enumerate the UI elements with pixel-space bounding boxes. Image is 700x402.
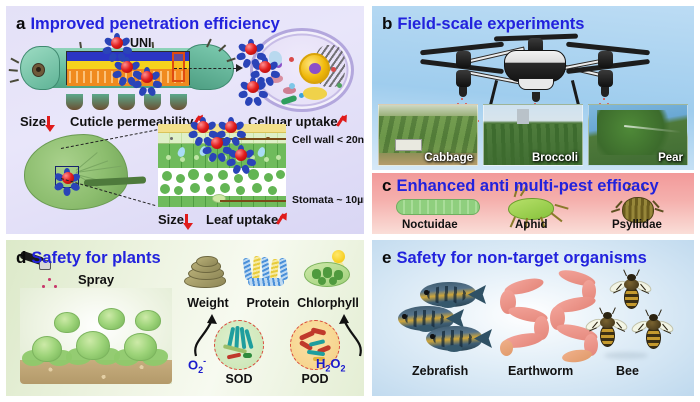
metric-size-label: Size <box>158 212 184 227</box>
panel-c-letter: c <box>382 176 391 196</box>
panel-d-heading: dSafety for plants <box>16 248 161 268</box>
bee-head <box>649 314 658 321</box>
panel-d-letter: d <box>16 248 26 268</box>
aphid-leg <box>550 212 562 222</box>
bee-antenna <box>636 269 640 276</box>
zebrafish-illustration <box>412 282 486 308</box>
thylakoid-granum <box>318 277 326 285</box>
nanoparticle-uni <box>138 68 156 86</box>
mesophyll-cell <box>206 186 215 195</box>
bee-shadow <box>604 352 648 359</box>
mesophyll-cell <box>220 183 230 193</box>
leaf-spongy-mesophyll <box>158 168 286 196</box>
graphical-abstract-figure: aImproved penetration efficiency <box>0 0 700 402</box>
organelle-vesicle <box>289 57 294 62</box>
mesophyll-cell <box>234 174 243 183</box>
bee-abdomen <box>646 327 661 349</box>
protein-icon <box>242 256 292 290</box>
drone-motor <box>598 51 613 68</box>
mesophyll-cell <box>176 174 185 183</box>
caterpillar-proleg <box>92 94 109 110</box>
panel-e-safety-for-non-target-organisms: eSafety for non-target organisms Zebrafi… <box>372 240 694 396</box>
drone-motor <box>456 70 471 87</box>
chloroplast-dot <box>276 155 281 160</box>
metric-size-leaf: Size <box>158 212 186 227</box>
panel-a-title: Improved penetration efficiency <box>30 15 279 34</box>
nanoparticle-uni-label: UNI <box>130 36 152 50</box>
chlorophyll-icon <box>302 250 352 288</box>
weight-icon <box>184 256 230 290</box>
cabbage-head <box>98 308 125 330</box>
bee-antenna <box>623 269 627 276</box>
caterpillar-seta <box>152 42 154 48</box>
mesophyll-cell <box>252 183 262 193</box>
panel-a-letter: a <box>16 14 25 34</box>
cabbage-plant <box>50 310 88 342</box>
cell-wall-pore <box>170 137 173 140</box>
mesophyll-cell <box>188 169 199 180</box>
caterpillar-proleg <box>170 94 187 110</box>
organelle-chloroplast <box>280 95 297 106</box>
metric-leaf-uptake-label: Leaf uptake <box>206 212 278 227</box>
caterpillar-proleg <box>66 94 83 110</box>
nanoparticle-uni <box>256 58 274 76</box>
mesophyll-cell <box>268 186 277 195</box>
enzyme-label-pod: POD <box>284 372 346 386</box>
bee-head <box>603 312 612 319</box>
metric-size-cuticle: Size <box>20 114 48 129</box>
pest-noctuidae-illustration <box>396 199 480 215</box>
organelle-vesicle <box>337 83 342 88</box>
caterpillar-eye <box>32 63 45 77</box>
spray-drone-illustration <box>408 30 658 114</box>
cell-wall-pore <box>266 137 270 141</box>
nanoparticle-uni <box>108 34 126 52</box>
substrate-superoxide-label: O2- <box>188 356 206 375</box>
caterpillar-seta <box>10 79 19 83</box>
mesophyll-cell <box>276 170 285 179</box>
mesophyll-cell <box>204 173 213 182</box>
panel-c-enhanced-anti-multi-pest-efficacy: cEnhanced anti multi-pest efficacy Noctu… <box>372 173 694 234</box>
field-photo-label: Cabbage <box>424 152 473 164</box>
indicator-label-chlorophyll: Chlorphyll <box>292 296 364 310</box>
caterpillar-seta <box>9 69 18 71</box>
metric-leaf-uptake: Leaf uptake <box>206 212 280 227</box>
cabbage-head <box>135 310 161 331</box>
panel-b-field-scale-experiments: bField-scale experiments <box>372 6 694 170</box>
panel-c-title: Enhanced anti multi-pest efficacy <box>396 177 658 196</box>
drone-motor <box>456 51 471 68</box>
caterpillar-head <box>20 46 60 90</box>
aphid-leg <box>555 204 569 209</box>
chloroplast-dot <box>180 157 185 162</box>
mesophyll-cell <box>162 171 172 181</box>
penetration-flow-arrow <box>174 68 236 69</box>
nanoparticle-uni <box>208 134 226 152</box>
field-photo-label: Pear <box>658 152 683 164</box>
pest-label-noctuidae: Noctuidae <box>402 219 458 231</box>
panel-b-title: Field-scale experiments <box>397 15 584 34</box>
bee-antenna <box>658 309 662 316</box>
cabbage-plant <box>132 308 168 338</box>
organelle-vesicle <box>289 83 295 89</box>
chloroplast-dot <box>264 157 269 162</box>
indicator-label-protein: Protein <box>238 296 298 310</box>
panel-e-letter: e <box>382 248 391 268</box>
fish-anal-fin <box>446 345 462 352</box>
panel-d-safety-for-plants: dSafety for plants Spray <box>6 240 364 396</box>
psyllidae-leg <box>655 208 664 212</box>
noctuidae-larva-body <box>396 199 480 215</box>
panel-e-heading: eSafety for non-target organisms <box>382 248 647 268</box>
drone-landing-leg <box>571 80 580 106</box>
panel-e-title: Safety for non-target organisms <box>396 249 646 268</box>
enzyme-label-sod: SOD <box>208 372 270 386</box>
substrate-hydrogen-peroxide-label: H2O2 <box>316 356 346 374</box>
metric-size-label: Size <box>20 114 46 129</box>
drone-spray-tank <box>518 78 554 90</box>
fish-eye <box>424 290 429 295</box>
bee-abdomen <box>624 287 639 309</box>
cabbage-plant <box>94 306 132 338</box>
panel-a-improved-penetration-efficiency: aImproved penetration efficiency <box>6 6 364 234</box>
organism-label-zebrafish: Zebrafish <box>412 364 468 378</box>
bee-illustration <box>588 314 626 348</box>
field-photo-broccoli: Broccoli <box>483 104 583 166</box>
bee-illustration <box>634 316 672 350</box>
sun-icon <box>332 250 345 263</box>
bee-head <box>627 274 636 281</box>
organism-label-earthworm: Earthworm <box>508 364 573 378</box>
stomata-pointer-line <box>220 200 286 202</box>
drone-landing-leg <box>489 80 498 106</box>
field-photo-strip: Cabbage Broccoli Pear <box>378 104 688 166</box>
zebrafish-illustration <box>418 326 492 352</box>
panel-a-heading: aImproved penetration efficiency <box>16 14 280 34</box>
panel-b-heading: bField-scale experiments <box>382 14 584 34</box>
sod-substrate-arrow <box>190 312 224 358</box>
caterpillar-seta <box>10 58 19 64</box>
pest-label-psyllidae: Psyllidae <box>612 219 662 231</box>
chloroplast-dot <box>194 155 199 160</box>
mesophyll-cell <box>218 170 228 180</box>
fish-eye <box>402 314 407 319</box>
mesophyll-cell <box>190 183 200 193</box>
bee-antenna <box>645 309 649 316</box>
drone-motor <box>598 70 613 87</box>
indicator-label-weight: Weight <box>182 296 234 310</box>
pest-label-aphid: Aphid <box>515 219 548 231</box>
field-photo-cabbage: Cabbage <box>378 104 478 166</box>
nanoparticle-uni <box>118 58 136 76</box>
mesophyll-cell <box>174 186 183 195</box>
thylakoid-granum <box>329 277 337 285</box>
panel-b-letter: b <box>382 14 392 34</box>
annotation-stomata: Stomata ~ 10µm <box>292 194 364 206</box>
panel-c-heading: cEnhanced anti multi-pest efficacy <box>382 176 659 196</box>
pod-substrate-arrow <box>332 312 364 358</box>
caterpillar-proleg <box>118 94 135 110</box>
field-photo-pear: Pear <box>588 104 688 166</box>
organelle-vesicle <box>331 67 336 72</box>
nanoparticle-uni <box>242 40 260 58</box>
panel-d-title: Safety for plants <box>31 249 160 268</box>
field-photo-label: Broccoli <box>532 152 578 164</box>
nucleolus <box>309 63 321 74</box>
chloroplast-dot <box>166 155 171 160</box>
bee-illustration <box>612 276 650 310</box>
fish-eye <box>430 334 435 339</box>
organelle-lipid-body <box>303 87 327 100</box>
cabbage-field-illustration <box>20 288 172 384</box>
cabbage-head <box>54 312 80 333</box>
nanoparticle-uni <box>232 146 250 164</box>
mesophyll-cell <box>236 186 245 195</box>
earthworm-illustration <box>498 280 554 356</box>
cuticle-zoom-box <box>172 52 185 82</box>
organism-label-bee: Bee <box>616 364 639 378</box>
stomata-guard-cell <box>212 194 226 203</box>
mesophyll-cell <box>264 173 273 182</box>
annotation-cell-wall: Cell wall < 20nm <box>292 134 364 146</box>
bee-abdomen <box>600 325 615 347</box>
caterpillar-proleg <box>144 94 161 110</box>
psyllidae-leg <box>611 208 620 212</box>
mesophyll-cell <box>160 184 170 194</box>
nanoparticle-uni <box>244 78 262 96</box>
caterpillar-seta <box>79 42 81 48</box>
